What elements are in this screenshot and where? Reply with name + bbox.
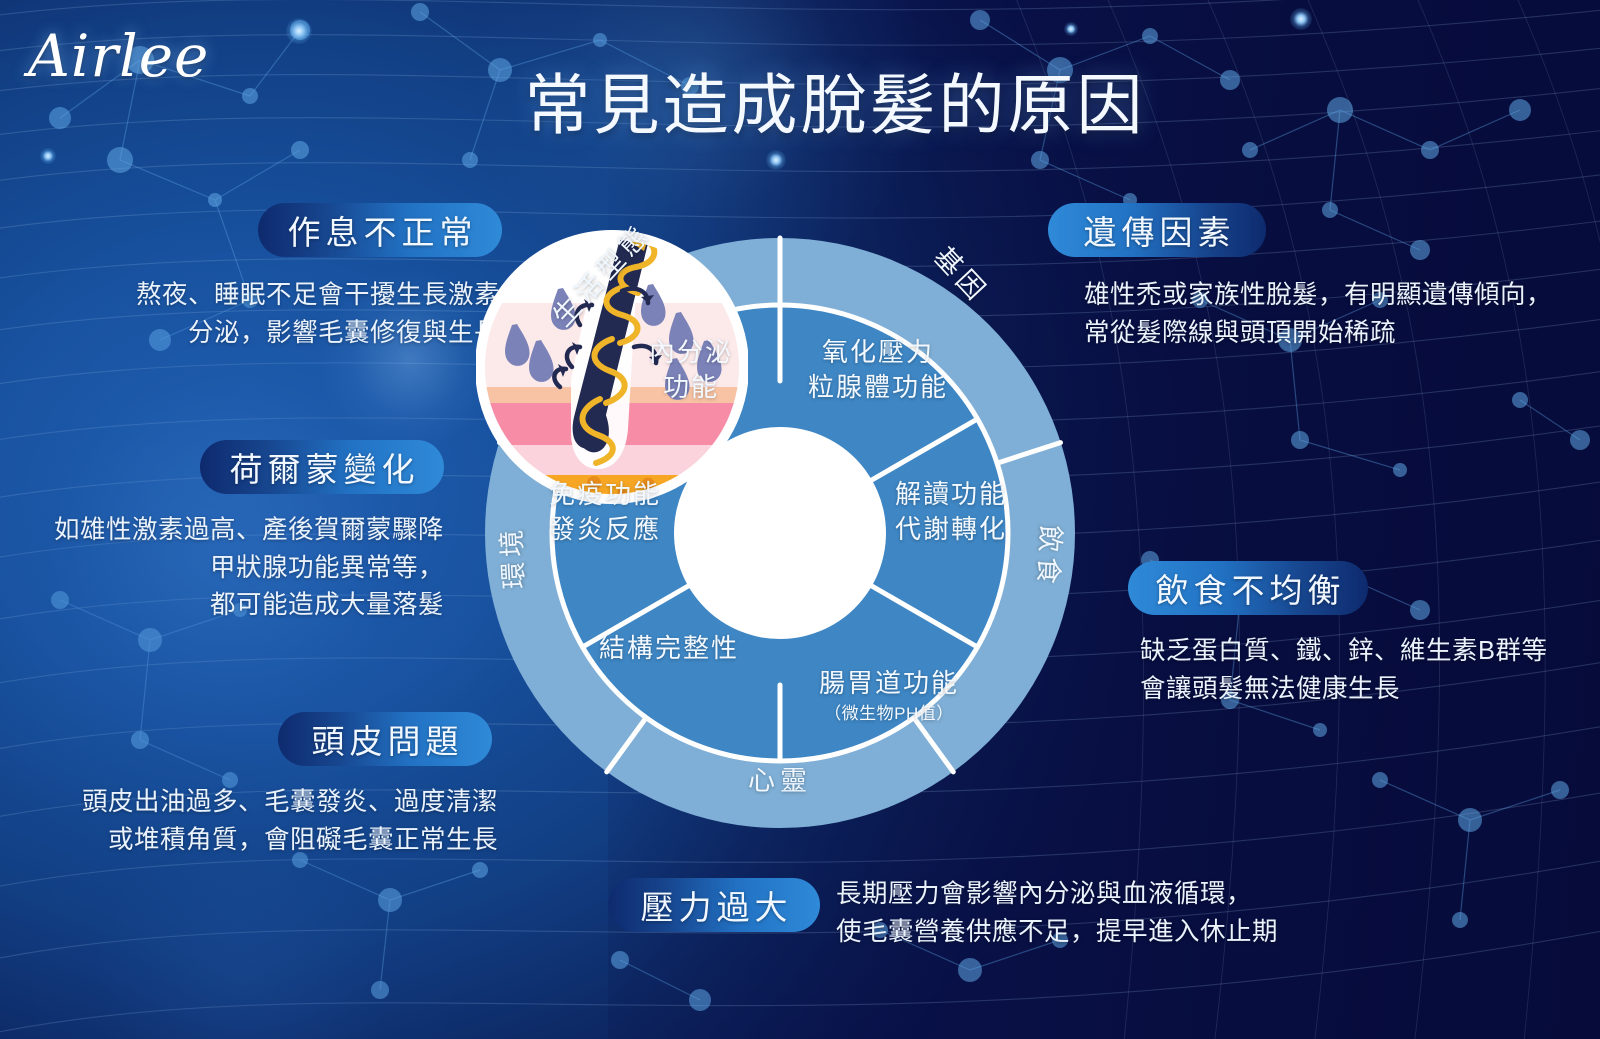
sparkle-2: [766, 150, 786, 170]
cause-desc-genetic-factor: 雄性禿或家族性脫髮，有明顯遺傳傾向， 常從髮際線與頭頂開始稀疏: [1084, 277, 1584, 352]
cause-pill-unbalanced-diet[interactable]: 飲食不均衡: [1128, 561, 1368, 615]
cause-desc-hormonal-change: 如雄性激素過高、產後賀爾蒙驟降 甲狀腺功能異常等， 都可能造成大量落髮: [20, 512, 444, 625]
sparkle-1: [286, 18, 312, 44]
cause-pill-irregular-schedule[interactable]: 作息不正常: [258, 203, 502, 257]
cause-desc-excess-stress: 長期壓力會影響內分泌與血液循環， 使毛囊營養供應不足，提早進入休止期: [836, 876, 1356, 951]
cause-pill-hormonal-change[interactable]: 荷爾蒙變化: [200, 440, 444, 494]
sparkle-4: [40, 148, 56, 164]
cause-desc-scalp-problem: 頭皮出油過多、毛囊發炎、過度清潔 或堆積角質，會阻礙毛囊正常生長: [72, 784, 498, 859]
causes-wheel-diagram: 生活型態 基因 飲食 心靈 環境 內分泌 功能 氧化壓力 粒腺體功能 解讀功能 …: [476, 229, 1084, 837]
sparkle-3: [1290, 8, 1312, 30]
cause-pill-excess-stress[interactable]: 壓力過大: [608, 878, 820, 932]
cause-desc-irregular-schedule: 熬夜、睡眠不足會干擾生長激素 分泌，影響毛囊修復與生長: [80, 277, 500, 352]
page-title: 常見造成脫髮的原因: [0, 52, 1600, 148]
segment-label-endocrine: 內分泌 功能: [616, 335, 766, 405]
segment-label-gut-function: 腸胃道功能 （微生物PH值）: [794, 631, 984, 760]
cause-pill-scalp-problem[interactable]: 頭皮問題: [278, 712, 492, 766]
segment-label-metabolism: 解讀功能 代謝轉化: [871, 477, 1031, 547]
segment-label-gut-function-sub: （微生物PH值）: [794, 703, 984, 726]
cause-desc-unbalanced-diet: 缺乏蛋白質、鐵、鋅、維生素B群等 會讓頭髮無法健康生長: [1140, 633, 1590, 708]
segment-label-structural-integrity: 結構完整性: [574, 631, 764, 666]
segment-label-oxidative-stress: 氧化壓力 粒腺體功能: [788, 335, 968, 405]
ring-label-mind: 心靈: [715, 755, 845, 807]
segment-label-immune-function: 免疫功能 發炎反應: [524, 477, 686, 547]
sparkle-5: [1064, 22, 1078, 36]
segment-label-gut-function-main: 腸胃道功能: [819, 668, 959, 698]
